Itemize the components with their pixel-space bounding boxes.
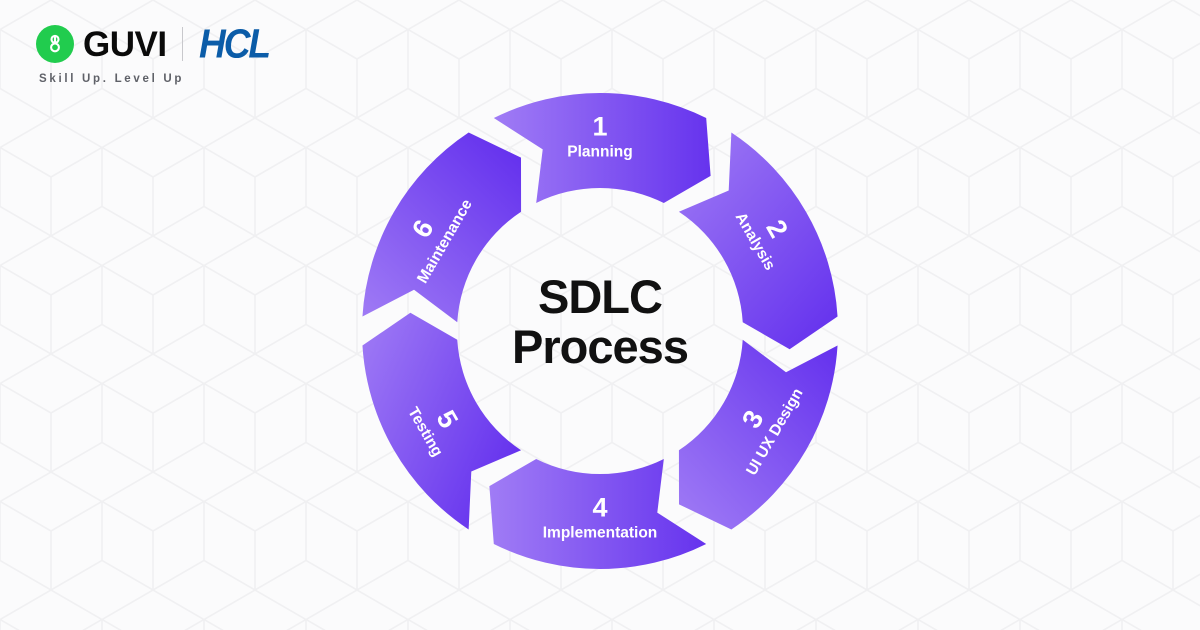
sdlc-step-name-4: Implementation [543, 525, 658, 542]
guvi-wordmark: GUVI [83, 27, 167, 62]
center-title-line-1: SDLC [0, 272, 1200, 322]
sdlc-step-number-4: 4 [592, 493, 607, 523]
brand-tagline: Skill Up. Level Up [39, 73, 267, 85]
guvi-g-mark-icon [36, 25, 74, 63]
sdlc-step-number-1: 1 [592, 112, 607, 142]
brand-divider [182, 27, 183, 61]
brand-logo-row: GUVI HCL [36, 22, 267, 66]
brand-bar: GUVI HCL Skill Up. Level Up [36, 22, 267, 85]
diagram-center-title: SDLC Process [0, 272, 1200, 372]
hcl-wordmark: HCL [199, 24, 269, 64]
sdlc-step-name-1: Planning [567, 144, 632, 161]
center-title-line-2: Process [0, 322, 1200, 372]
